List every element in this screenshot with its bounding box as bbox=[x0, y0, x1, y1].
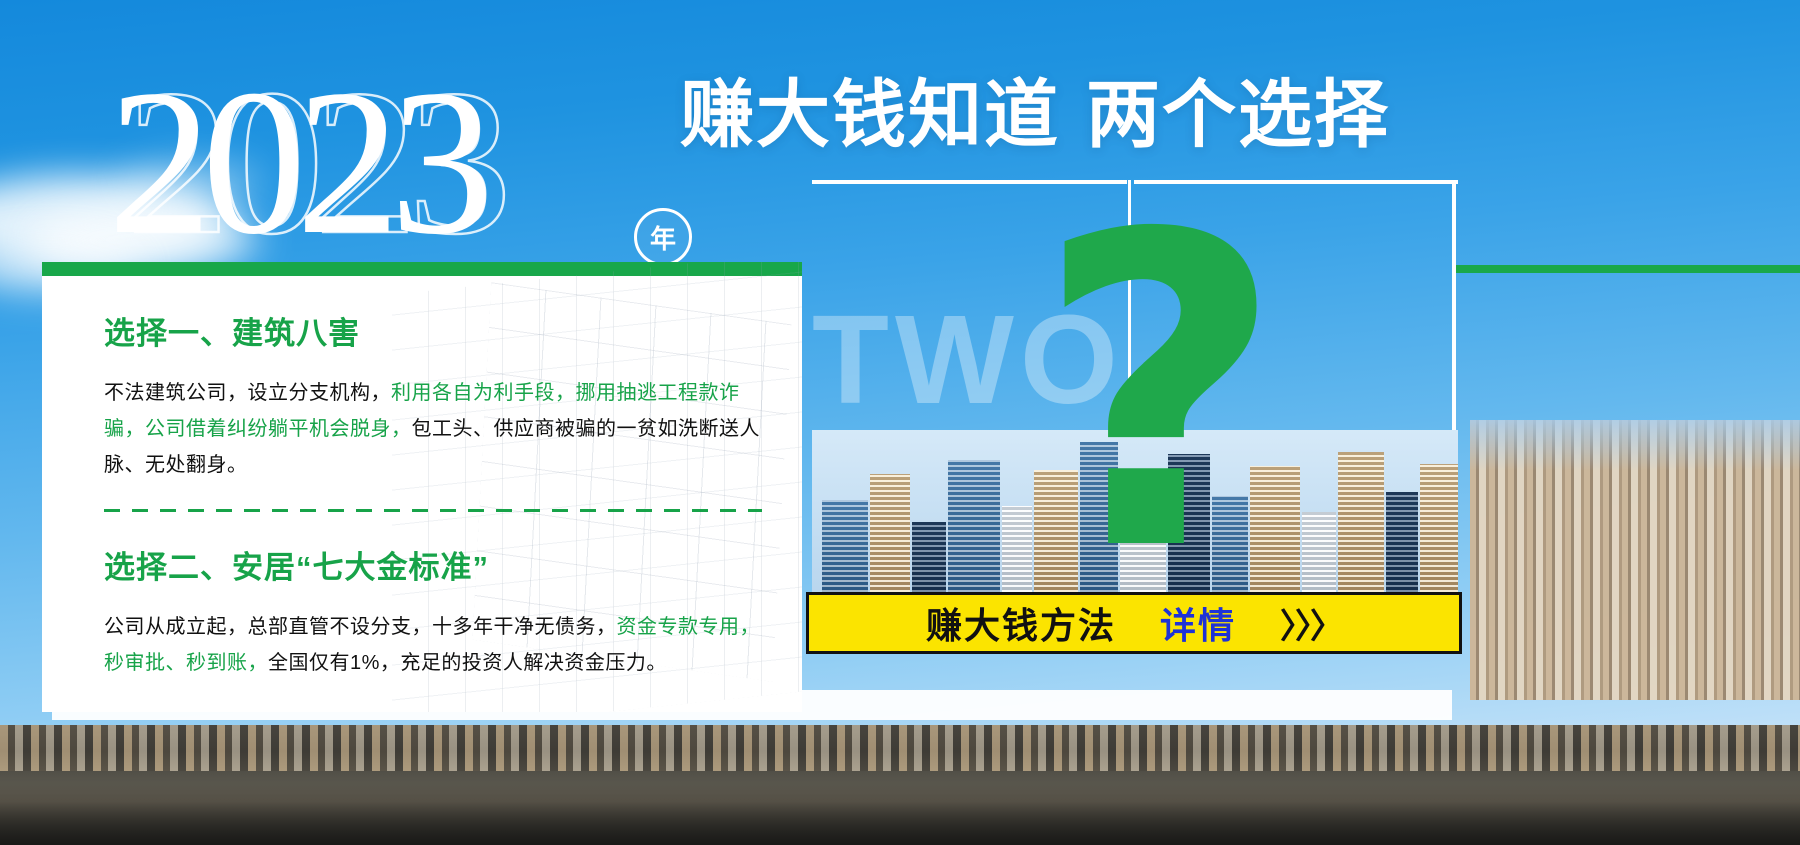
body-run: 公司从成立起，总部直管不设分支，十多年干净无债务， bbox=[104, 616, 617, 638]
chevron-right-icon: 〉〉〉 bbox=[1280, 599, 1342, 648]
building bbox=[912, 522, 946, 592]
building bbox=[870, 474, 910, 592]
building bbox=[948, 460, 1000, 592]
bottom-photo-strip bbox=[0, 725, 1800, 845]
year-unit-badge: 年 bbox=[634, 208, 692, 266]
building bbox=[1002, 506, 1032, 592]
poster-stage: 2023 2023 年 赚大钱知道两个选择 TWO CHOICES ? bbox=[0, 0, 1800, 845]
building bbox=[1302, 512, 1336, 592]
section-one-title: 选择一、建筑八害 bbox=[104, 308, 762, 353]
cta-label: 赚大钱方法 bbox=[926, 597, 1116, 649]
building bbox=[1420, 464, 1458, 592]
building bbox=[822, 500, 868, 592]
green-accent-bar bbox=[1456, 265, 1800, 273]
cta-banner[interactable]: 赚大钱方法 详情 〉〉〉 bbox=[806, 592, 1462, 654]
body-run: 不法建筑公司，设立分支机构， bbox=[104, 382, 391, 404]
body-run: 全国仅有1%，充足的投资人解决资金压力。 bbox=[268, 652, 667, 674]
section-one-body: 不法建筑公司，设立分支机构，利用各自为利手段，挪用抽逃工程款诈骗，公司借着纠纷躺… bbox=[104, 375, 762, 483]
city-photo-right bbox=[1470, 420, 1800, 700]
year-number-outline: 2023 bbox=[126, 62, 502, 262]
cta-link-text[interactable]: 详情 bbox=[1160, 597, 1236, 649]
building bbox=[1338, 452, 1384, 592]
section-two-body: 公司从成立起，总部直管不设分支，十多年干净无债务，资金专款专用，秒审批、秒到账，… bbox=[104, 609, 762, 681]
dashed-divider bbox=[104, 509, 762, 512]
headline-left: 赚大钱知道 bbox=[680, 73, 1060, 156]
content-card: 选择一、建筑八害 不法建筑公司，设立分支机构，利用各自为利手段，挪用抽逃工程款诈… bbox=[42, 262, 802, 712]
headline-right: 两个选择 bbox=[1086, 73, 1390, 156]
question-mark-icon: ? bbox=[1035, 205, 1284, 585]
year-block: 2023 2023 年 bbox=[108, 62, 484, 262]
page-title: 赚大钱知道两个选择 bbox=[680, 78, 1390, 152]
building bbox=[1386, 492, 1418, 592]
section-two-title: 选择二、安居“七大金标准” bbox=[104, 542, 762, 587]
year-number: 2023 2023 bbox=[108, 62, 484, 262]
